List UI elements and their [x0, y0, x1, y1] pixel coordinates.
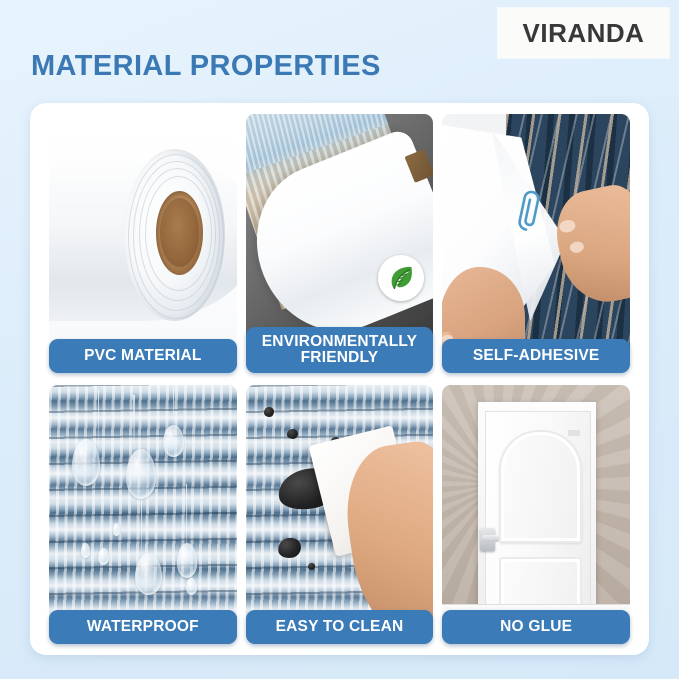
leaf-icon: [378, 255, 424, 301]
feature-card-pvc-material[interactable]: PVC MATERIAL: [49, 114, 237, 373]
feature-label-self-adhesive: SELF-ADHESIVE: [442, 339, 630, 373]
door-icon: [442, 385, 630, 632]
feature-card-no-glue[interactable]: NO GLUE: [442, 385, 630, 644]
brand-name: VIRANDA: [523, 18, 645, 49]
feature-label-no-glue: NO GLUE: [442, 610, 630, 644]
brand-logo-box: VIRANDA: [498, 8, 669, 58]
wipe-icon: [246, 385, 434, 632]
self-adhesive-image: [442, 114, 630, 361]
feature-card-environmentally-friendly[interactable]: ENVIRONMENTALLY FRIENDLY: [246, 114, 434, 373]
feature-label-line2: FRIENDLY: [262, 350, 417, 366]
feature-card-self-adhesive[interactable]: SELF-ADHESIVE: [442, 114, 630, 373]
feature-card-easy-to-clean[interactable]: EASY TO CLEAN: [246, 385, 434, 644]
feature-label-line1: ENVIRONMENTALLY: [262, 334, 417, 350]
features-panel: PVC MATERIAL: [30, 103, 649, 655]
feature-label-environmentally-friendly: ENVIRONMENTALLY FRIENDLY: [246, 327, 434, 373]
roll-icon: [49, 114, 237, 361]
page-title: MATERIAL PROPERTIES: [31, 50, 381, 83]
features-grid: PVC MATERIAL: [49, 114, 630, 644]
feature-card-waterproof[interactable]: WATERPROOF: [49, 385, 237, 644]
eco-wallpaper-image: [246, 114, 434, 349]
feature-label-easy-to-clean: EASY TO CLEAN: [246, 610, 434, 644]
product-infographic: VIRANDA MATERIAL PROPERTIES PVC MATERIA: [0, 0, 679, 679]
feature-label-pvc-material: PVC MATERIAL: [49, 339, 237, 373]
water-drop-icon: [49, 385, 237, 632]
feature-label-waterproof: WATERPROOF: [49, 610, 237, 644]
